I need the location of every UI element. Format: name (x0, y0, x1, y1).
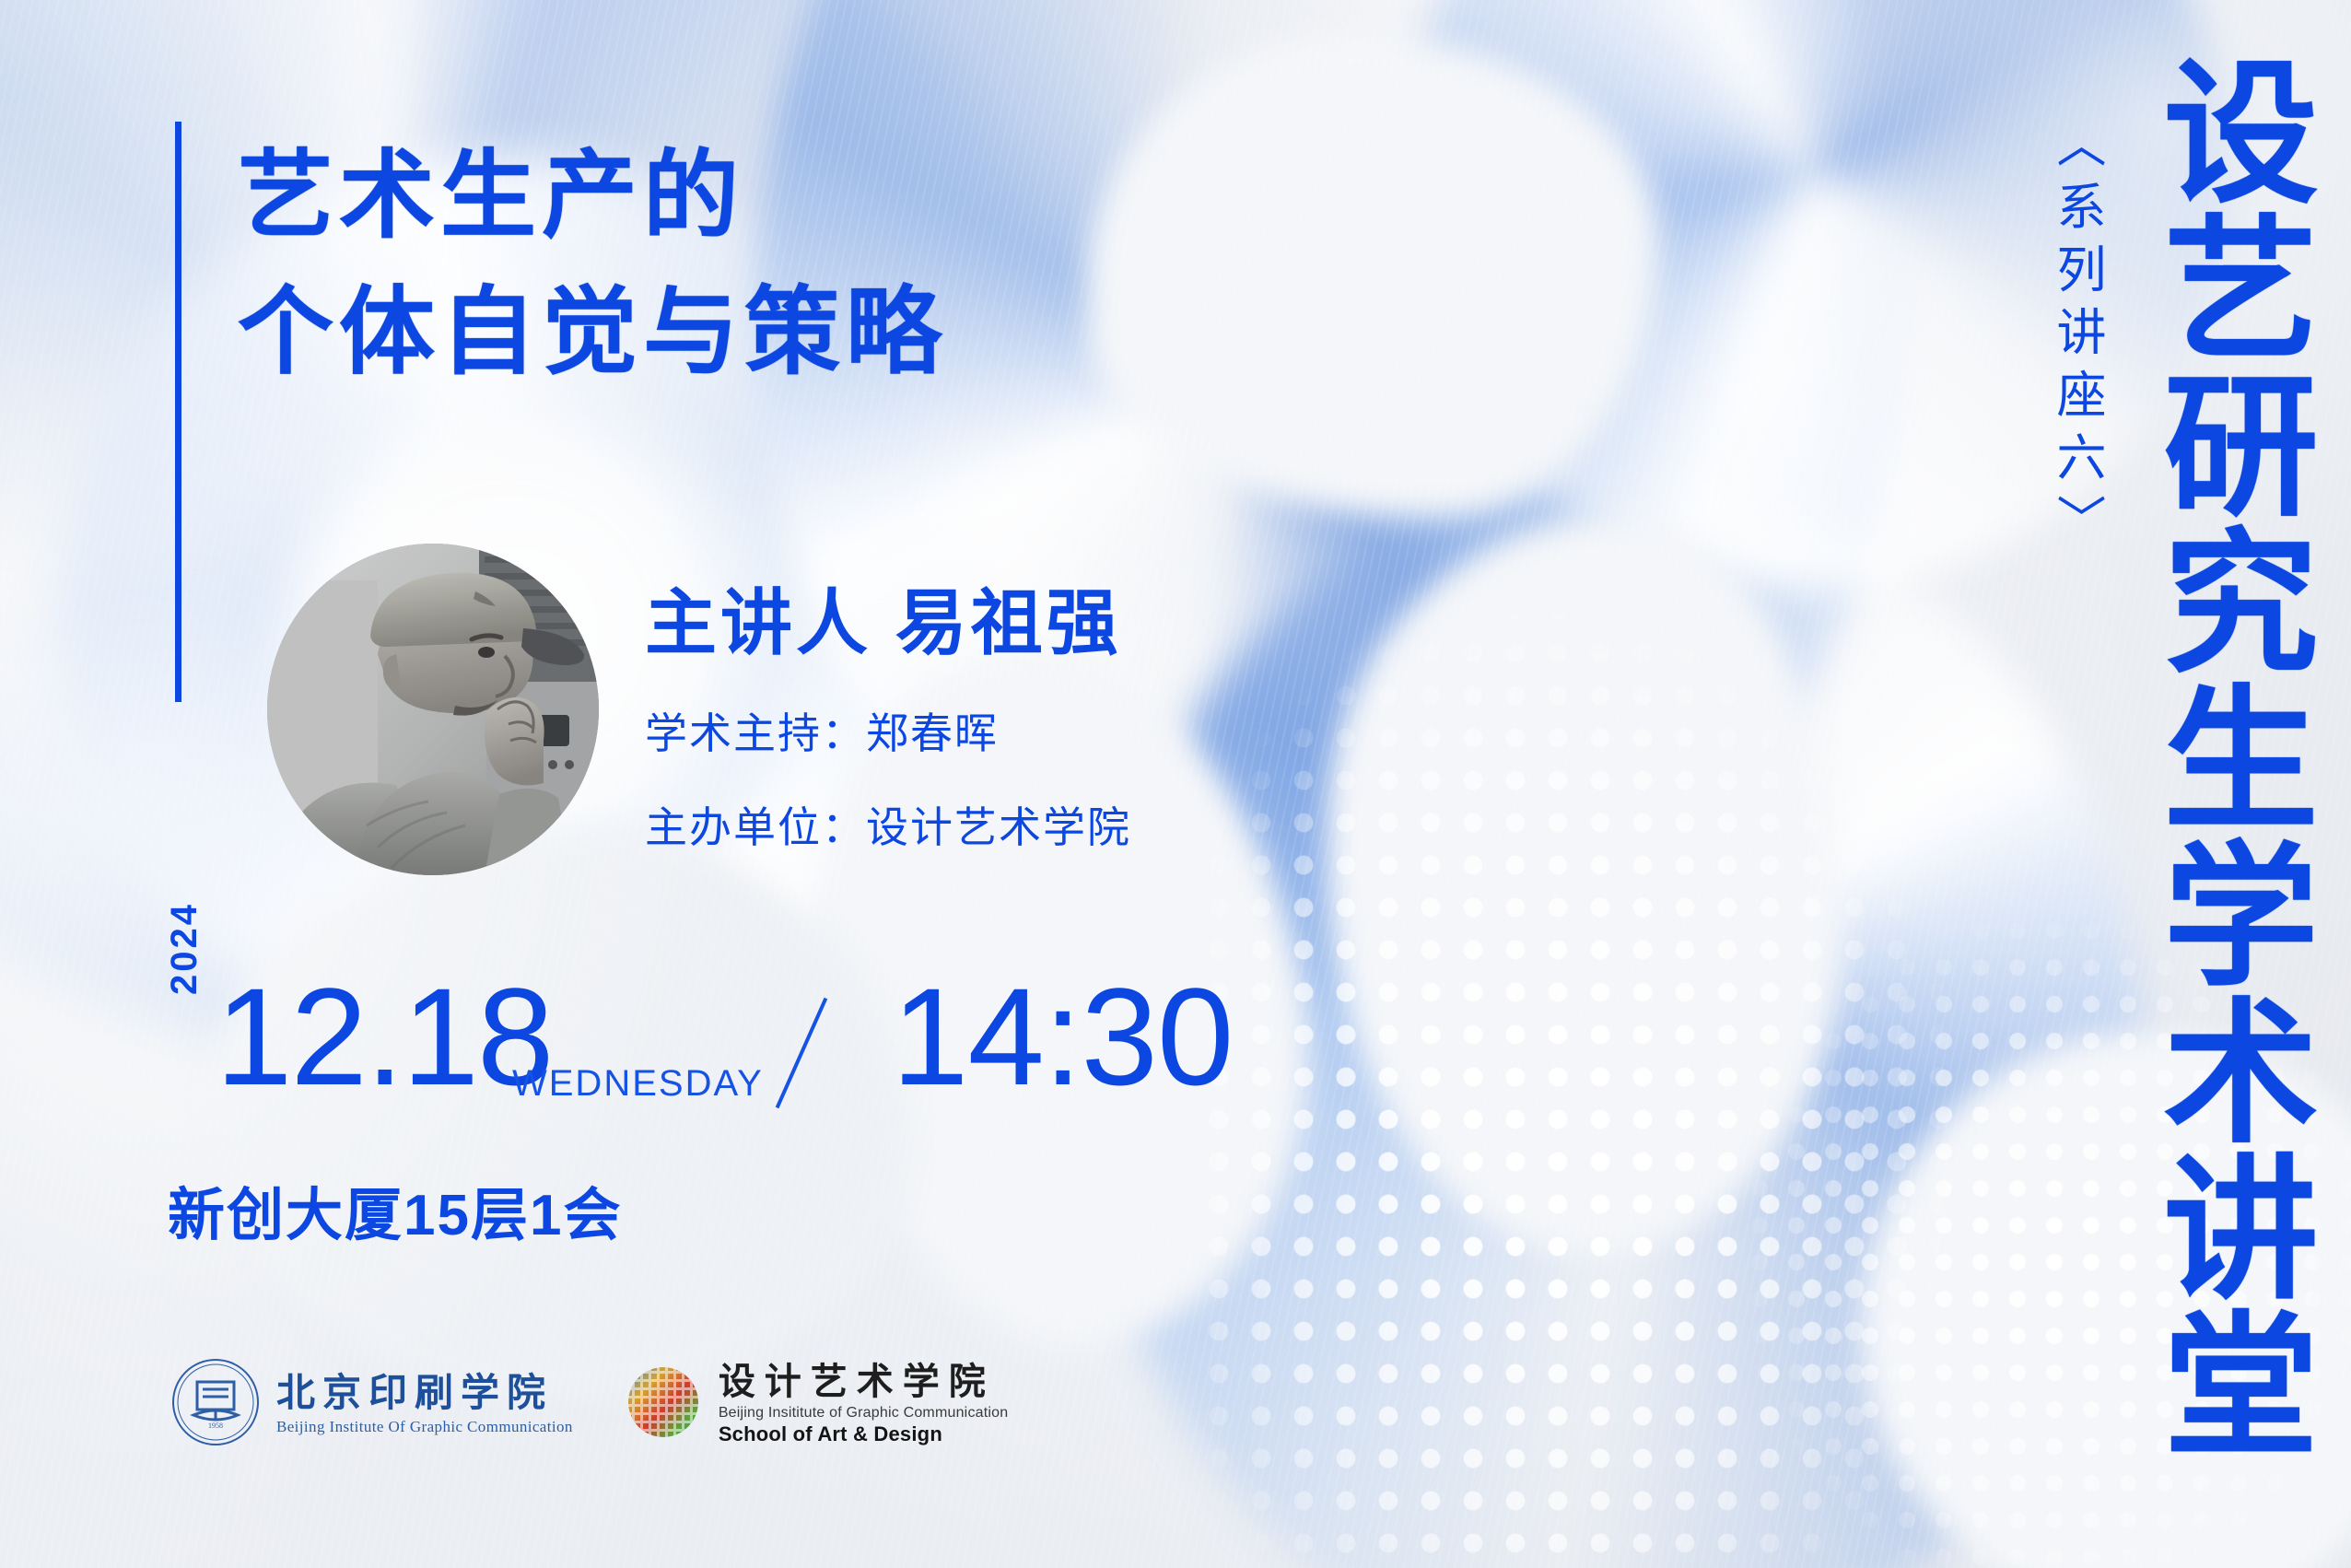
speaker-info: 主讲人 易祖强 学术主持：郑春晖 主办单位：设计艺术学院 (645, 580, 1131, 855)
bigc-logo-cn: 北京印刷学院 (276, 1370, 553, 1415)
lecture-title: 艺术生产的 个体自觉与策略 (238, 129, 947, 401)
portrait-illustration (267, 544, 599, 875)
bigc-seal-icon: 1958 (171, 1358, 260, 1451)
event-weekday: WEDNESDAY (512, 1063, 764, 1105)
school-logo-en-1: Beijing Insititute of Graphic Communicat… (719, 1405, 1009, 1422)
event-venue: 新创大厦15层1会 (168, 1168, 622, 1251)
school-logo-text: 设计艺术学院 Beijing Insititute of Graphic Com… (719, 1363, 1009, 1446)
poster-content: 艺术生产的 个体自觉与策略 (0, 0, 2351, 1568)
series-subtitle-vertical: 〈系列讲座六〉 (2041, 118, 2113, 556)
lecture-title-line-1: 艺术生产的 (238, 129, 947, 265)
title-accent-bar (175, 122, 181, 702)
series-title-vertical: 设艺研究生学术讲堂 (2151, 52, 2303, 1461)
event-date: 12.18 (216, 967, 552, 1106)
logo-school-of-art: 设计艺术学院 Beijing Insititute of Graphic Com… (625, 1363, 1009, 1446)
event-year: 2024 (164, 902, 205, 995)
logo-row: 1958 北京印刷学院 Beijing Institute Of Graphic… (171, 1358, 1008, 1451)
logo-bigc: 1958 北京印刷学院 Beijing Institute Of Graphic… (171, 1358, 573, 1451)
speaker-portrait (267, 544, 599, 875)
speaker-name: 主讲人 易祖强 (645, 580, 1131, 667)
date-time-separator (776, 998, 828, 1108)
lecture-title-line-2: 个体自觉与策略 (238, 265, 947, 402)
poster-canvas: 艺术生产的 个体自觉与策略 (0, 0, 2351, 1568)
bigc-logo-text: 北京印刷学院 Beijing Institute Of Graphic Comm… (276, 1373, 573, 1436)
bigc-logo-en: Beijing Institute Of Graphic Communicati… (276, 1418, 573, 1436)
academic-host: 学术主持：郑春晖 (645, 700, 1131, 761)
school-globe-icon (625, 1363, 702, 1445)
event-time: 14:30 (892, 967, 1233, 1106)
svg-text:1958: 1958 (208, 1422, 223, 1430)
school-logo-en-2: School of Art & Design (719, 1422, 1009, 1446)
organizer: 主办单位：设计艺术学院 (645, 794, 1131, 855)
school-logo-cn: 设计艺术学院 (719, 1362, 995, 1402)
